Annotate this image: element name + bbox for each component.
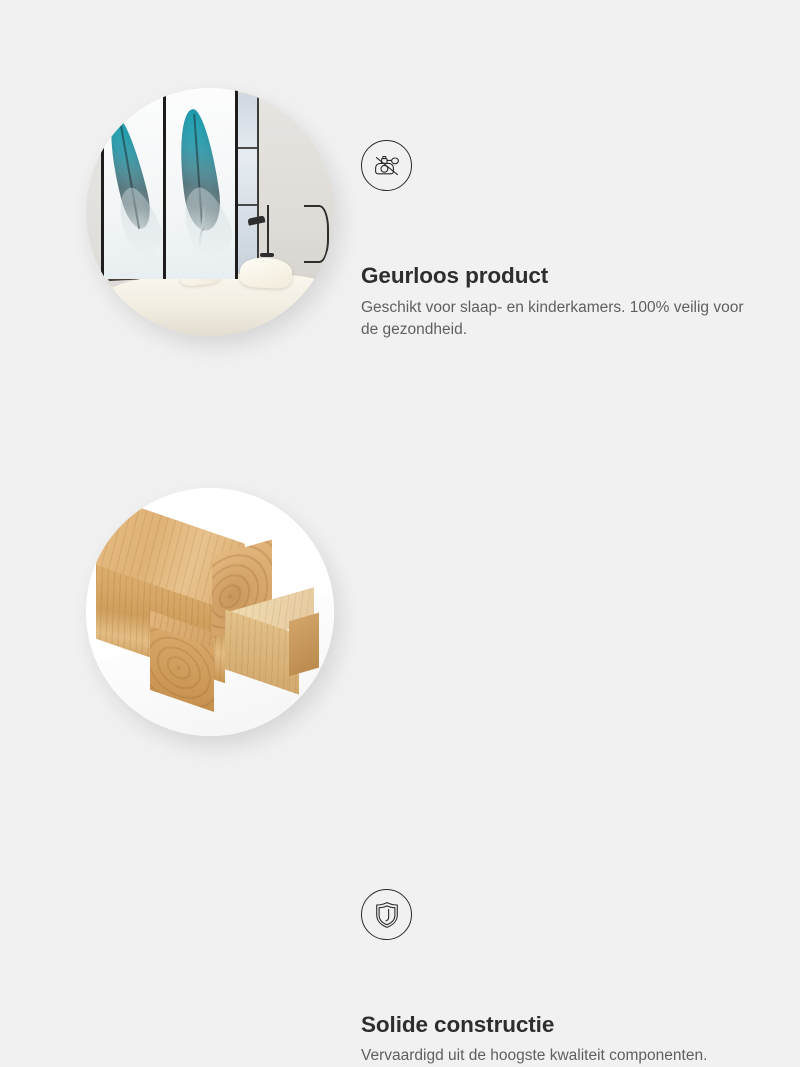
canvas-panel-3 — [235, 88, 244, 279]
feature-description: Vervaardigd uit de hoogste kwaliteit com… — [361, 1045, 746, 1067]
canvas-panel-1 — [101, 88, 167, 279]
wooden-blocks-scene — [86, 488, 334, 736]
feature-image-wooden-blocks-photo — [86, 488, 334, 736]
feature-image-feather-triptych-bedroom-photo — [86, 88, 334, 336]
canvas-triptych — [86, 88, 334, 336]
feature-block-solide-constructie: Solide constructie Vervaardigd uit de ho… — [0, 400, 800, 800]
feature-block-geurloos-product: Geurloos product Geschikt voor slaap- en… — [0, 0, 800, 400]
canvas-panel-2 — [163, 88, 238, 279]
feature-copy-solide-constructie: Solide constructie Vervaardigd uit de ho… — [361, 889, 761, 1067]
feature-title: Solide constructie — [361, 1011, 761, 1038]
feather-wisp-1 — [109, 183, 166, 260]
no-perfume-icon — [361, 140, 412, 191]
product-feature-panel: Geurloos product Geschikt voor slaap- en… — [0, 0, 800, 800]
shield-icon — [361, 889, 412, 940]
feature-description: Geschikt voor slaap- en kinderkamers. 10… — [361, 297, 746, 342]
feature-copy-geurloos-product: Geurloos product Geschikt voor slaap- en… — [361, 140, 761, 342]
feather-bedroom-scene — [86, 88, 334, 336]
plank-end-face — [289, 613, 319, 676]
feature-title: Geurloos product — [361, 262, 761, 289]
